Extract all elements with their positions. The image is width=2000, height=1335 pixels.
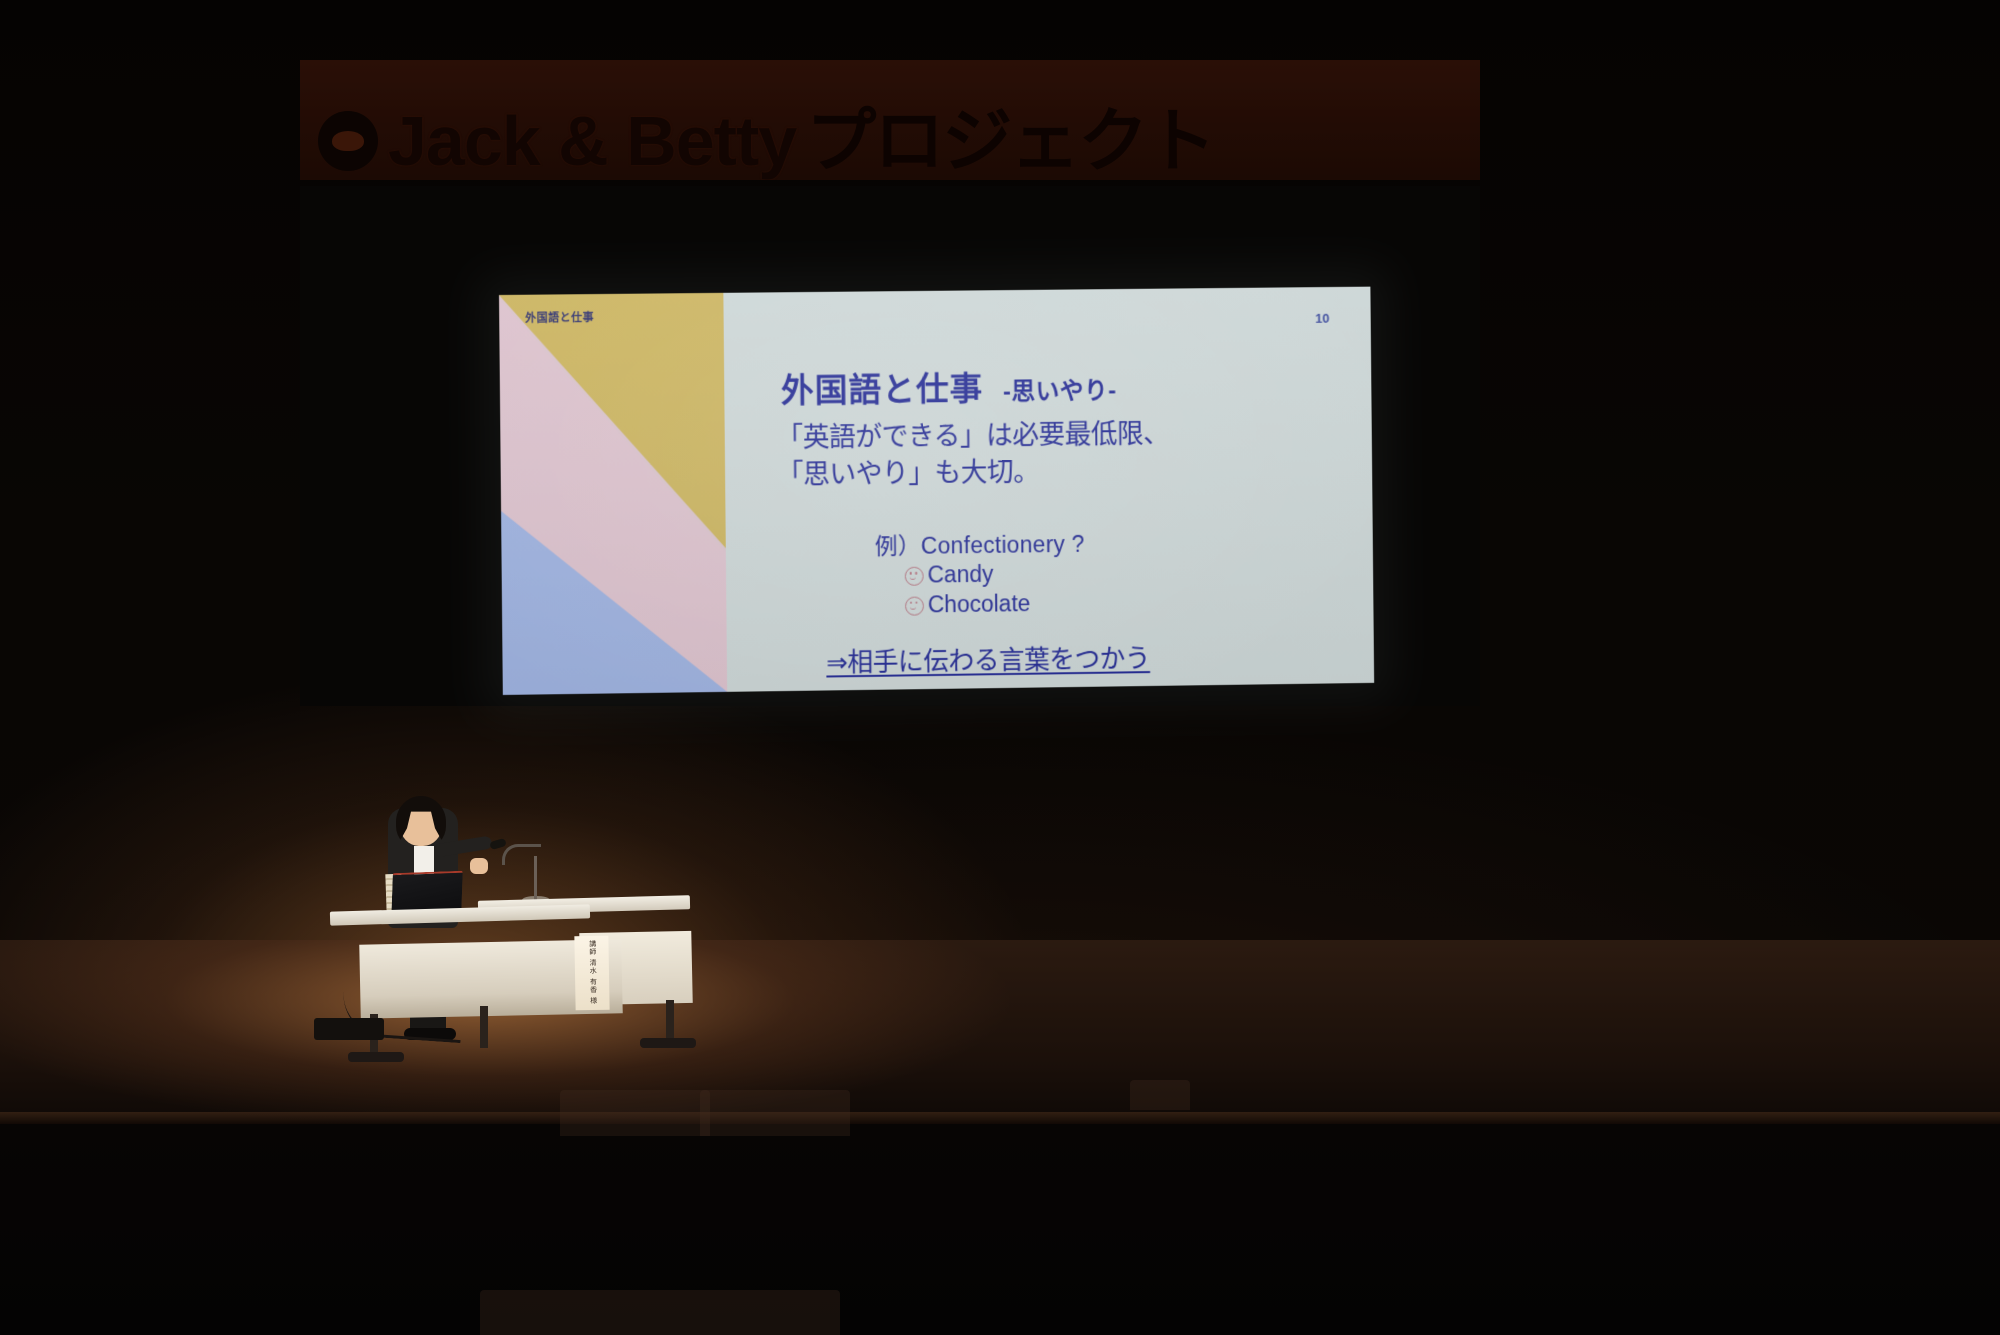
- presenter-hand: [470, 858, 488, 874]
- stage-edge: [0, 1112, 2000, 1124]
- slide-lead-line-1: 「英語ができる」は必要最低限、: [776, 416, 1169, 457]
- speaker-name-placard-text: 講師 清水 有香 様: [586, 940, 598, 1005]
- speaker-name-placard: 講師 清水 有香 様: [574, 936, 609, 1011]
- pit-rail: [480, 1290, 840, 1335]
- slide-decoration-panel: 外国語と仕事: [499, 293, 727, 695]
- slide-example-block: 例）Confectionery ? Candy Chocolate: [875, 530, 1086, 621]
- podium-group: 講師 清水 有香 様: [330, 800, 690, 1050]
- desk-surface-left: [330, 904, 590, 925]
- event-banner-content: Jack & Betty プロジェクト: [318, 106, 1214, 176]
- slide-example-item: Candy: [905, 559, 1085, 591]
- pit-rail: [1130, 1080, 1190, 1110]
- desk-caster: [348, 1052, 404, 1062]
- jack-betty-mark-icon: [318, 111, 378, 171]
- slide-example-item: Chocolate: [905, 589, 1085, 621]
- event-banner: Jack & Betty プロジェクト: [300, 60, 1480, 180]
- smiley-face-icon: [905, 567, 924, 586]
- auditorium-scene: Jack & Betty プロジェクト 外国語と仕事 10 外国語と仕事 -思い…: [0, 0, 2000, 1335]
- desk-caster: [640, 1038, 696, 1048]
- slide-lead-text: 「英語ができる」は必要最低限、 「思いやり」も大切。: [776, 416, 1169, 495]
- slide-running-header: 外国語と仕事: [525, 309, 594, 326]
- slide-example-item-label: Chocolate: [928, 590, 1031, 621]
- event-banner-title-en: Jack & Betty: [388, 106, 796, 176]
- desk-leg: [480, 1006, 488, 1048]
- projected-slide: 外国語と仕事 10 外国語と仕事 -思いやり- 「英語ができる」は必要最低限、 …: [499, 287, 1374, 695]
- event-banner-title-jp: プロジェクト: [806, 106, 1214, 176]
- slide-example-heading: 例）Confectionery ?: [875, 530, 1085, 562]
- microphone-capsule-icon: [489, 838, 507, 850]
- floor-equipment-box: [314, 1018, 384, 1040]
- slide-title: 外国語と仕事: [781, 372, 984, 407]
- smiley-face-icon: [905, 596, 924, 615]
- slide-subtitle: -思いやり-: [1003, 379, 1117, 404]
- desk-leg: [666, 1000, 674, 1042]
- pit-rail: [560, 1090, 710, 1136]
- stage-floor: [0, 940, 2000, 1140]
- slide-lead-line-2: 「思いやり」も大切。: [777, 453, 1170, 495]
- orchestra-pit: [0, 1124, 2000, 1335]
- slide-conclusion: ⇒相手に伝わる言葉をつかう: [826, 638, 1150, 679]
- slide-page-number: 10: [1315, 311, 1329, 326]
- microphone-gooseneck: [502, 844, 541, 865]
- slide-example-item-label: Candy: [927, 560, 993, 591]
- pit-rail: [700, 1090, 850, 1136]
- slide-content-area: 10 外国語と仕事 -思いやり- 「英語ができる」は必要最低限、 「思いやり」も…: [723, 287, 1374, 692]
- slide-heading-row: 外国語と仕事 -思いやり-: [781, 371, 1117, 407]
